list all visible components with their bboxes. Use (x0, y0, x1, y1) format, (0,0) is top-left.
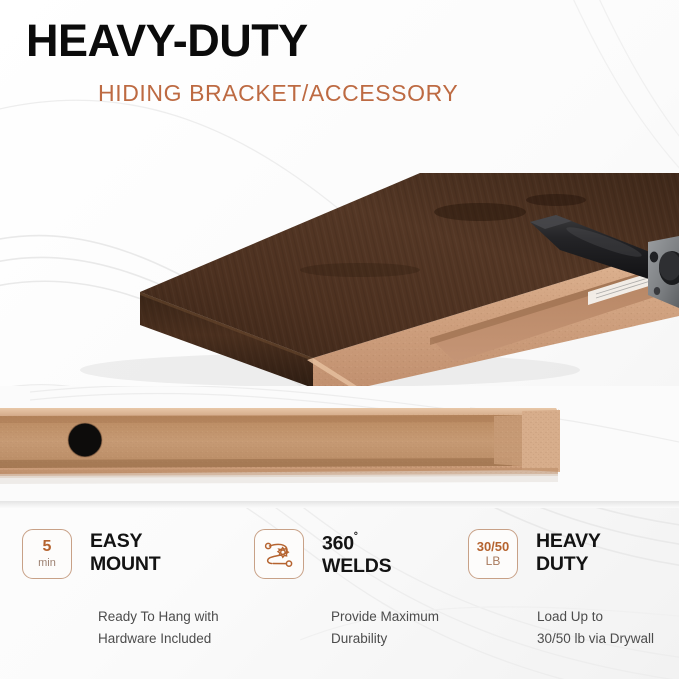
feature-desc-line1: Load Up to (537, 609, 603, 624)
feature-header-row: 360˚ WELDS (254, 529, 391, 579)
feature-desc-line1: Ready To Hang with (98, 609, 219, 624)
header: HEAVY-DUTY HIDING BRACKET/ACCESSORY (0, 0, 679, 125)
feature-heading-line2: WELDS (322, 555, 391, 577)
feature-desc-line2: Hardware Included (98, 631, 211, 646)
feature-heading: HEAVY DUTY (536, 529, 601, 575)
feature-heading-line1: EASY (90, 530, 142, 552)
channel-closeup-image (0, 386, 679, 504)
bracket-plate-small-hole (650, 252, 658, 263)
feature-header-row: 30/50 LB HEAVY DUTY (468, 529, 601, 579)
badge-unit: LB (486, 555, 501, 568)
channel-illustration (0, 386, 679, 504)
shelf-illustration (0, 120, 679, 388)
feature-desc-line2: 30/50 lb via Drywall (537, 631, 654, 646)
weld-path-glyph (262, 539, 296, 569)
feature-heading-line2: DUTY (536, 553, 588, 575)
feature-desc-line1: Provide Maximum (331, 609, 439, 624)
clock-5-min-icon: 5 min (22, 529, 72, 579)
degree-symbol: ˚ (354, 530, 358, 545)
hero-product-image (0, 120, 679, 388)
feature-desc-line2: Durability (331, 631, 387, 646)
feature-description: Load Up to 30/50 lb via Drywall (537, 606, 654, 650)
feature-item-heavy-duty: 30/50 LB HEAVY DUTY Load Up to 30/50 lb … (468, 512, 679, 672)
feature-heading-line2: MOUNT (90, 553, 161, 575)
product-infographic: HEAVY-DUTY HIDING BRACKET/ACCESSORY (0, 0, 679, 679)
feature-heading: EASY MOUNT (90, 529, 161, 575)
feature-heading-line1: HEAVY (536, 530, 601, 552)
page-title: HEAVY-DUTY (26, 18, 308, 63)
section-divider (0, 501, 679, 508)
feature-list: 5 min EASY MOUNT Ready To Hang with Hard… (0, 512, 679, 679)
badge-value: 5 (43, 539, 52, 556)
page-subtitle: HIDING BRACKET/ACCESSORY (98, 82, 458, 105)
feature-item-easy-mount: 5 min EASY MOUNT Ready To Hang with Hard… (22, 512, 237, 672)
weight-capacity-icon: 30/50 LB (468, 529, 518, 579)
badge-unit: min (38, 557, 56, 569)
badge-value: 30/50 (477, 540, 510, 554)
weld-path-icon (254, 529, 304, 579)
feature-heading: 360˚ WELDS (322, 529, 391, 578)
feature-description: Provide Maximum Durability (331, 606, 439, 650)
feature-description: Ready To Hang with Hardware Included (98, 606, 219, 650)
feature-item-360-welds: 360˚ WELDS Provide Maximum Durability (254, 512, 469, 672)
feature-heading-line1: 360 (322, 533, 354, 555)
feature-header-row: 5 min EASY MOUNT (22, 529, 161, 579)
